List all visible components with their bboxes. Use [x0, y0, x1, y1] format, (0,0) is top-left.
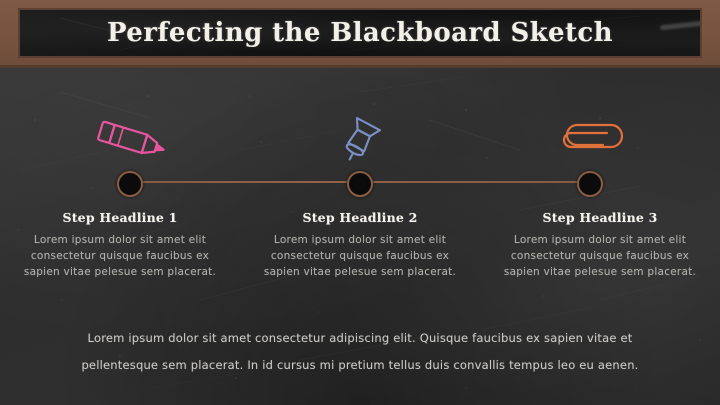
timeline-node-1[interactable]	[117, 171, 143, 197]
step-3-icon	[545, 110, 635, 170]
step-column-3: Step Headline 3 Lorem ipsum dolor sit am…	[480, 210, 720, 280]
step-2-body: Lorem ipsum dolor sit amet elit consecte…	[260, 232, 460, 280]
steps-row: Step Headline 1 Lorem ipsum dolor sit am…	[0, 210, 720, 280]
title-plate: Perfecting the Blackboard Sketch	[18, 8, 702, 58]
step-3-body: Lorem ipsum dolor sit amet elit consecte…	[500, 232, 700, 280]
timeline-node-3[interactable]	[577, 171, 603, 197]
step-1-headline: Step Headline 1	[8, 210, 232, 225]
timeline-node-2[interactable]	[347, 171, 373, 197]
step-2-icon	[315, 110, 405, 170]
title-wooden-frame: Perfecting the Blackboard Sketch	[0, 0, 720, 68]
timeline	[0, 100, 720, 200]
step-2-headline: Step Headline 2	[248, 210, 472, 225]
page-title: Perfecting the Blackboard Sketch	[107, 18, 613, 48]
step-3-headline: Step Headline 3	[488, 210, 712, 225]
pencil-icon	[87, 114, 173, 166]
step-column-2: Step Headline 2 Lorem ipsum dolor sit am…	[240, 210, 480, 280]
push-pin-icon	[325, 112, 395, 168]
step-1-body: Lorem ipsum dolor sit amet elit consecte…	[20, 232, 220, 280]
step-1-icon	[85, 110, 175, 170]
paperclip-icon	[551, 119, 629, 161]
footer-paragraph: Lorem ipsum dolor sit amet consectetur a…	[60, 325, 660, 379]
step-column-1: Step Headline 1 Lorem ipsum dolor sit am…	[0, 210, 240, 280]
slide-canvas: Perfecting the Blackboard Sketch	[0, 0, 720, 405]
